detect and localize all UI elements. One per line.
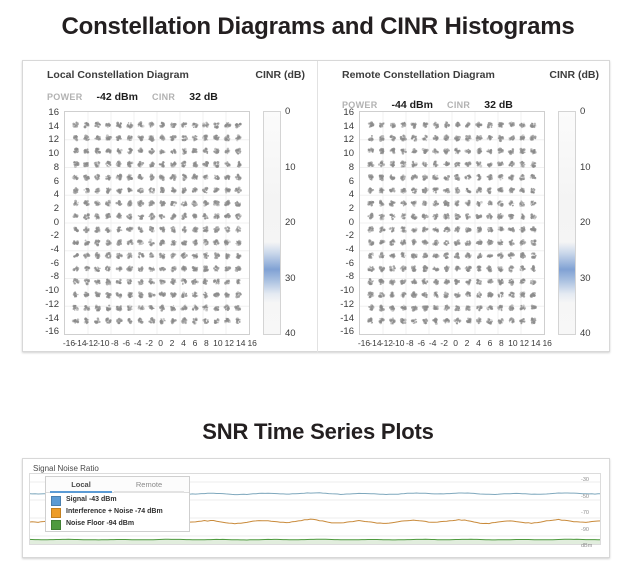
remote-panel-title: Remote Constellation Diagram — [342, 69, 512, 81]
y-tick: -16 — [25, 327, 59, 337]
y-tick: 2 — [320, 204, 354, 214]
remote-constellation-panel: Remote Constellation Diagram CINR (dB) P… — [317, 61, 611, 353]
remote-histogram-scale: 010203040 — [580, 105, 606, 341]
y-tick: -4 — [320, 245, 354, 255]
remote-cinr-label: CINR — [447, 100, 470, 110]
remote-power-value: -44 dBm — [392, 99, 433, 111]
y-tick: 10 — [320, 149, 354, 159]
y-tick: -8 — [320, 272, 354, 282]
local-histogram-band — [264, 242, 280, 303]
y-tick: 10 — [25, 149, 59, 159]
snr-heading: Signal Noise Ratio — [33, 464, 99, 473]
local-cinr-value: 32 dB — [189, 91, 218, 103]
snr-time-series-card: Signal Noise Ratio Local Remote Signal -… — [22, 458, 610, 558]
remote-x-axis: -16-14-12-10-8-6-4-20246810121416 — [352, 338, 552, 352]
y-tick: 14 — [320, 122, 354, 132]
local-panel-header: Local Constellation Diagram CINR (dB) PO… — [47, 69, 309, 105]
histogram-tick: 40 — [285, 329, 309, 339]
legend-label: Noise Floor -94 dBm — [66, 520, 134, 527]
local-power-label: POWER — [47, 92, 83, 102]
local-histogram-scale: 010203040 — [285, 105, 311, 341]
legend-item[interactable]: Signal -43 dBm — [46, 494, 189, 506]
histogram-tick: 20 — [285, 218, 309, 228]
local-metrics: POWER -42 dBm CINR 32 dB — [47, 91, 218, 103]
local-y-axis: 1614121086420-2-4-6-8-10-12-14-16 — [23, 105, 59, 341]
legend-swatch-icon — [51, 520, 61, 530]
histogram-tick: 0 — [580, 107, 604, 117]
remote-cinr-value: 32 dB — [484, 99, 513, 111]
y-tick: 4 — [320, 190, 354, 200]
remote-cinr-header: CINR (dB) — [507, 69, 599, 81]
y-tick: 2 — [25, 204, 59, 214]
y-tick: 16 — [25, 108, 59, 118]
snr-legend-tabs: Local Remote — [46, 477, 189, 493]
local-cinr-label: CINR — [152, 92, 175, 102]
constellation-card: Local Constellation Diagram CINR (dB) PO… — [22, 60, 610, 352]
y-tick: 8 — [25, 163, 59, 173]
tab-remote[interactable]: Remote — [114, 478, 184, 493]
y-tick: 8 — [320, 163, 354, 173]
y-tick: -6 — [320, 259, 354, 269]
y-tick: -16 — [320, 327, 354, 337]
y-tick: -6 — [25, 259, 59, 269]
histogram-tick: 30 — [580, 274, 604, 284]
page-title-constellation: Constellation Diagrams and CINR Histogra… — [0, 12, 636, 42]
y-tick: -14 — [320, 314, 354, 324]
y-tick: 12 — [320, 135, 354, 145]
local-cinr-histogram — [263, 111, 281, 335]
y-tick: -14 — [25, 314, 59, 324]
local-constellation-svg — [65, 112, 249, 334]
remote-histogram-band — [559, 242, 575, 303]
snr-y-tick: -30 — [581, 477, 605, 484]
remote-constellation-plot — [359, 111, 545, 335]
snr-legend-box: Local Remote Signal -43 dBmInterference … — [45, 476, 190, 532]
remote-cinr-histogram — [558, 111, 576, 335]
y-tick: 16 — [320, 108, 354, 118]
local-constellation-panel: Local Constellation Diagram CINR (dB) PO… — [23, 61, 317, 353]
legend-swatch-icon — [51, 508, 61, 518]
tab-local[interactable]: Local — [50, 478, 112, 493]
histogram-tick: 10 — [285, 163, 309, 173]
local-constellation-plot — [64, 111, 250, 335]
y-tick: -10 — [25, 286, 59, 296]
y-tick: 4 — [25, 190, 59, 200]
legend-swatch-icon — [51, 496, 61, 506]
snr-y-tick: -90 — [581, 527, 605, 534]
snr-y-tick: -70 — [581, 510, 605, 517]
legend-item[interactable]: Interference + Noise -74 dBm — [46, 506, 189, 518]
histogram-tick: 30 — [285, 274, 309, 284]
histogram-tick: 10 — [580, 163, 604, 173]
y-tick: 0 — [25, 218, 59, 228]
histogram-tick: 40 — [580, 329, 604, 339]
local-cinr-header: CINR (dB) — [213, 69, 305, 81]
y-tick: 6 — [320, 177, 354, 187]
local-power-value: -42 dBm — [97, 91, 138, 103]
y-tick: -2 — [320, 231, 354, 241]
histogram-tick: 20 — [580, 218, 604, 228]
legend-label: Signal -43 dBm — [66, 496, 117, 503]
x-tick: 16 — [244, 338, 260, 348]
y-tick: 6 — [25, 177, 59, 187]
remote-constellation-svg — [360, 112, 544, 334]
snr-y-tick: dBm — [581, 543, 605, 550]
histogram-tick: 0 — [285, 107, 309, 117]
y-tick: 0 — [320, 218, 354, 228]
y-tick: 12 — [25, 135, 59, 145]
y-tick: 14 — [25, 122, 59, 132]
page-title-snr: SNR Time Series Plots — [0, 418, 636, 446]
local-panel-title: Local Constellation Diagram — [47, 69, 217, 81]
y-tick: -12 — [320, 300, 354, 310]
y-tick: -8 — [25, 272, 59, 282]
legend-item[interactable]: Noise Floor -94 dBm — [46, 518, 189, 530]
y-tick: -12 — [25, 300, 59, 310]
y-tick: -2 — [25, 231, 59, 241]
y-tick: -4 — [25, 245, 59, 255]
y-tick: -10 — [320, 286, 354, 296]
remote-y-axis: 1614121086420-2-4-6-8-10-12-14-16 — [318, 105, 354, 341]
remote-panel-header: Remote Constellation Diagram CINR (dB) P… — [342, 69, 603, 105]
x-tick: 16 — [539, 338, 555, 348]
snr-legend-rows: Signal -43 dBmInterference + Noise -74 d… — [46, 494, 189, 530]
snr-y-tick: -50 — [581, 494, 605, 501]
legend-label: Interference + Noise -74 dBm — [66, 508, 163, 515]
remote-metrics: POWER -44 dBm CINR 32 dB — [342, 99, 513, 111]
local-x-axis: -16-14-12-10-8-6-4-20246810121416 — [57, 338, 257, 352]
snr-y-axis: -30-50-70-90dBm — [581, 473, 607, 547]
